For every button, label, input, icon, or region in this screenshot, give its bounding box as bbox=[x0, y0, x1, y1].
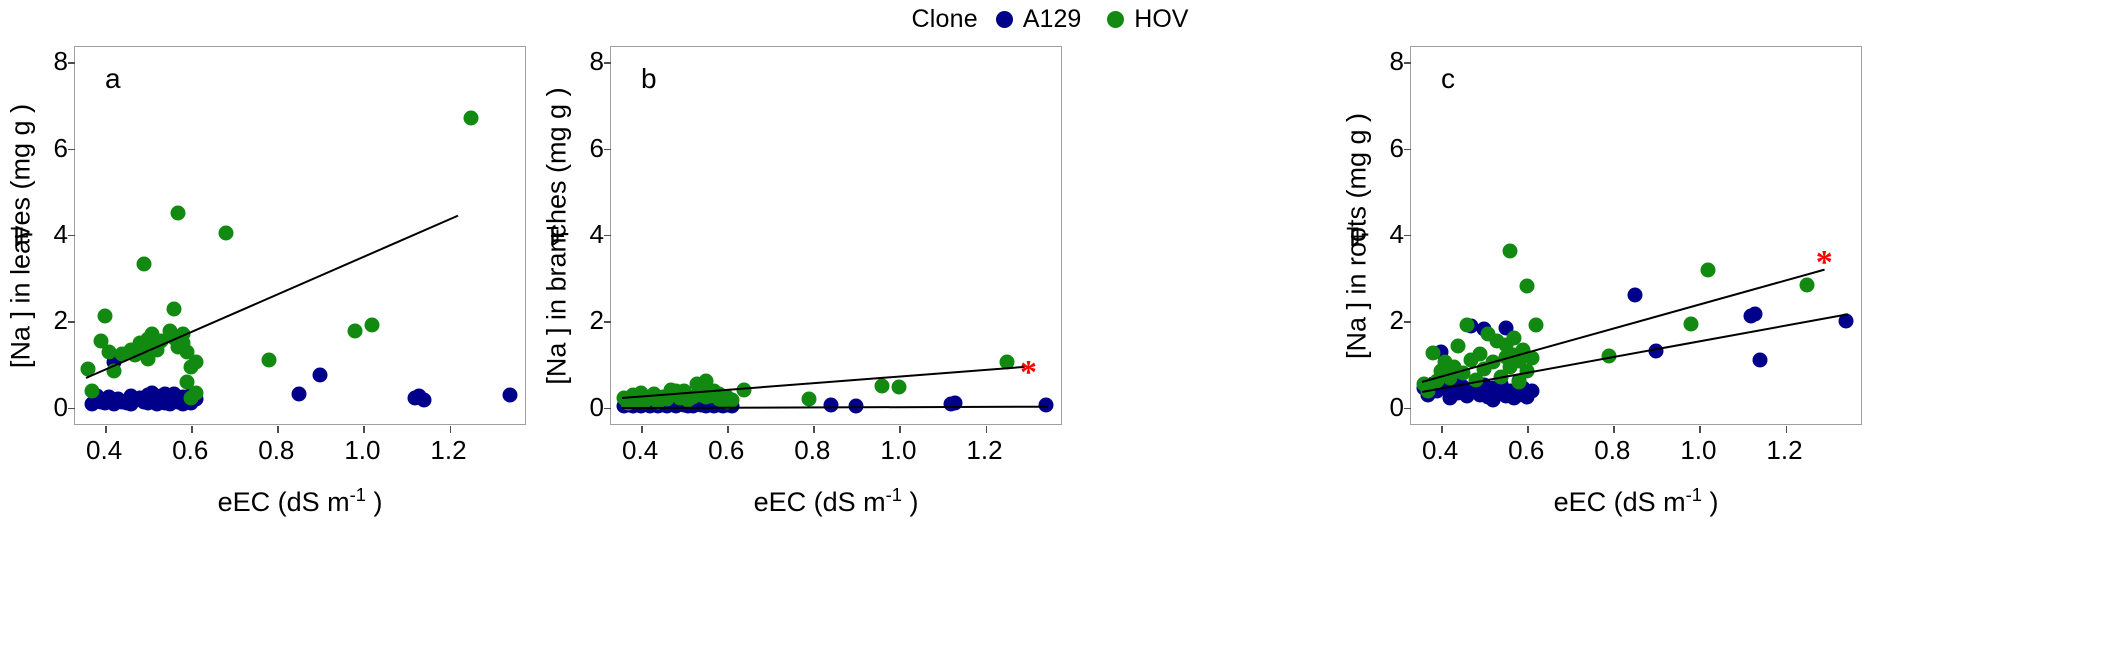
x-axis-ticks-c: 0.40.60.81.01.2 bbox=[1410, 437, 1862, 471]
data-point-a129 bbox=[1524, 384, 1539, 399]
x-tick-label-c-0.4: 0.4 bbox=[1422, 437, 1458, 463]
legend-title: Clone bbox=[912, 7, 978, 32]
x-tick-mark-b-0.8 bbox=[813, 426, 815, 433]
y-tick-label-c-2: 2 bbox=[1390, 307, 1404, 333]
data-point-hov bbox=[1451, 339, 1466, 354]
x-tick-mark-b-0.6 bbox=[727, 426, 729, 433]
x-tick-mark-c-0.8 bbox=[1613, 426, 1615, 433]
data-point-hov bbox=[1800, 277, 1815, 292]
y-tick-mark-a-0 bbox=[68, 408, 75, 410]
y-tick-mark-c-6 bbox=[1404, 149, 1411, 151]
data-point-a129 bbox=[502, 387, 517, 402]
panel-b: [Na+ ] in branches (mg g-1 ) 02468 b * 0… bbox=[536, 36, 1326, 636]
y-tick-mark-b-4 bbox=[604, 235, 611, 237]
data-point-hov bbox=[261, 353, 276, 368]
data-point-hov bbox=[136, 256, 151, 271]
data-point-a129 bbox=[823, 397, 838, 412]
x-tick-mark-c-0.6 bbox=[1527, 426, 1529, 433]
x-tick-label-b-1.0: 1.0 bbox=[880, 437, 916, 463]
x-axis-ticks-b: 0.40.60.81.01.2 bbox=[610, 437, 1062, 471]
data-point-hov bbox=[802, 392, 817, 407]
panel-tag-b: b bbox=[641, 65, 657, 93]
data-point-hov bbox=[365, 317, 380, 332]
x-tick-label-a-0.6: 0.6 bbox=[172, 437, 208, 463]
panel-a: [Na+ ] in leaves (mg g-1 ) 02468 a 0.40.… bbox=[0, 36, 536, 636]
x-axis-title-c: eEC (dS m-1 ) bbox=[1410, 481, 1862, 516]
legend: Clone A129 HOV bbox=[0, 4, 2126, 34]
legend-key-a129[interactable]: A129 bbox=[996, 7, 1081, 32]
y-tick-label-b-8: 8 bbox=[590, 48, 604, 74]
legend-marker-dot-a129 bbox=[996, 11, 1013, 28]
y-tick-label-c-0: 0 bbox=[1390, 394, 1404, 420]
data-point-hov bbox=[347, 323, 362, 338]
data-point-hov bbox=[724, 393, 739, 408]
x-tick-label-a-1.0: 1.0 bbox=[344, 437, 380, 463]
data-point-hov bbox=[875, 379, 890, 394]
panel-tag-c: c bbox=[1441, 65, 1455, 93]
y-tick-mark-a-8 bbox=[68, 62, 75, 64]
data-point-a129 bbox=[291, 387, 306, 402]
x-tick-mark-a-0.8 bbox=[277, 426, 279, 433]
y-tick-label-b-6: 6 bbox=[590, 135, 604, 161]
data-point-hov bbox=[464, 111, 479, 126]
x-tick-label-c-1.2: 1.2 bbox=[1766, 437, 1802, 463]
panel-tag-a: a bbox=[105, 65, 121, 93]
data-point-hov bbox=[167, 302, 182, 317]
data-point-a129 bbox=[313, 368, 328, 383]
data-point-hov bbox=[1701, 263, 1716, 278]
x-tick-mark-a-0.4 bbox=[105, 426, 107, 433]
legend-key-hov[interactable]: HOV bbox=[1107, 7, 1188, 32]
significance-asterisk-b: * bbox=[1020, 356, 1037, 390]
data-point-hov bbox=[188, 355, 203, 370]
x-tick-label-b-0.8: 0.8 bbox=[794, 437, 830, 463]
data-point-a129 bbox=[416, 393, 431, 408]
x-tick-mark-c-0.4 bbox=[1441, 426, 1443, 433]
data-point-hov bbox=[188, 385, 203, 400]
y-tick-mark-a-4 bbox=[68, 235, 75, 237]
y-tick-label-a-0: 0 bbox=[54, 394, 68, 420]
data-point-hov bbox=[218, 225, 233, 240]
plot-area-c[interactable]: c * bbox=[1410, 46, 1862, 425]
x-tick-label-b-1.2: 1.2 bbox=[966, 437, 1002, 463]
x-tick-mark-a-0.6 bbox=[191, 426, 193, 433]
y-tick-label-c-8: 8 bbox=[1390, 48, 1404, 74]
y-tick-label-b-4: 4 bbox=[590, 221, 604, 247]
x-tick-mark-b-1.0 bbox=[899, 426, 901, 433]
plot-area-a[interactable]: a bbox=[74, 46, 526, 425]
data-point-hov bbox=[1503, 244, 1518, 259]
x-axis-ticks-a: 0.40.60.81.01.2 bbox=[74, 437, 526, 471]
data-point-hov bbox=[892, 380, 907, 395]
y-tick-mark-a-2 bbox=[68, 321, 75, 323]
panel-c: [Na+ ] in roots (mg g-1 ) 02468 c * 0.40… bbox=[1326, 36, 2126, 636]
x-tick-mark-a-1.0 bbox=[363, 426, 365, 433]
x-tick-label-c-0.8: 0.8 bbox=[1594, 437, 1630, 463]
data-point-a129 bbox=[1627, 287, 1642, 302]
legend-label-hov: HOV bbox=[1134, 7, 1188, 32]
y-tick-mark-b-2 bbox=[604, 321, 611, 323]
legend-marker-dot-hov bbox=[1107, 11, 1124, 28]
x-tick-label-a-0.4: 0.4 bbox=[86, 437, 122, 463]
legend-label-a129: A129 bbox=[1023, 7, 1081, 32]
data-point-hov bbox=[85, 383, 100, 398]
y-tick-mark-b-6 bbox=[604, 149, 611, 151]
x-axis-title-b: eEC (dS m-1 ) bbox=[610, 481, 1062, 516]
x-tick-label-c-0.6: 0.6 bbox=[1508, 437, 1544, 463]
figure-root: Clone A129 HOV [Na+ ] in leaves (mg g-1 … bbox=[0, 0, 2126, 646]
y-axis-ticks-c: 02468 bbox=[1370, 46, 1404, 425]
plot-area-b[interactable]: b * bbox=[610, 46, 1062, 425]
x-axis-title-a: eEC (dS m-1 ) bbox=[74, 481, 526, 516]
y-tick-mark-c-0 bbox=[1404, 408, 1411, 410]
y-tick-mark-b-0 bbox=[604, 408, 611, 410]
data-point-hov bbox=[1683, 316, 1698, 331]
y-tick-label-a-6: 6 bbox=[54, 135, 68, 161]
y-tick-label-a-8: 8 bbox=[54, 48, 68, 74]
data-point-hov bbox=[171, 205, 186, 220]
data-point-a129 bbox=[1752, 353, 1767, 368]
x-tick-label-c-1.0: 1.0 bbox=[1680, 437, 1716, 463]
data-point-hov bbox=[1520, 278, 1535, 293]
y-tick-mark-c-4 bbox=[1404, 235, 1411, 237]
y-tick-label-a-2: 2 bbox=[54, 307, 68, 333]
y-tick-mark-b-8 bbox=[604, 62, 611, 64]
y-tick-mark-c-8 bbox=[1404, 62, 1411, 64]
data-point-hov bbox=[1528, 317, 1543, 332]
data-point-hov bbox=[1459, 317, 1474, 332]
data-point-hov bbox=[98, 308, 113, 323]
x-tick-label-a-0.8: 0.8 bbox=[258, 437, 294, 463]
x-tick-label-a-1.2: 1.2 bbox=[430, 437, 466, 463]
y-tick-mark-a-6 bbox=[68, 149, 75, 151]
y-axis-ticks-b: 02468 bbox=[570, 46, 604, 425]
y-axis-ticks-a: 02468 bbox=[34, 46, 68, 425]
x-tick-mark-c-1.2 bbox=[1786, 426, 1788, 433]
y-tick-label-b-0: 0 bbox=[590, 394, 604, 420]
x-tick-label-b-0.4: 0.4 bbox=[622, 437, 658, 463]
y-tick-label-c-6: 6 bbox=[1390, 135, 1404, 161]
data-point-hov bbox=[1425, 345, 1440, 360]
x-tick-mark-a-1.2 bbox=[450, 426, 452, 433]
y-tick-label-a-4: 4 bbox=[54, 221, 68, 247]
significance-asterisk-c: * bbox=[1816, 246, 1833, 280]
x-tick-label-b-0.6: 0.6 bbox=[708, 437, 744, 463]
x-tick-mark-c-1.0 bbox=[1699, 426, 1701, 433]
x-tick-mark-b-0.4 bbox=[641, 426, 643, 433]
x-tick-mark-b-1.2 bbox=[986, 426, 988, 433]
y-tick-label-b-2: 2 bbox=[590, 307, 604, 333]
data-point-a129 bbox=[1748, 306, 1763, 321]
y-tick-mark-c-2 bbox=[1404, 321, 1411, 323]
y-tick-label-c-4: 4 bbox=[1390, 221, 1404, 247]
